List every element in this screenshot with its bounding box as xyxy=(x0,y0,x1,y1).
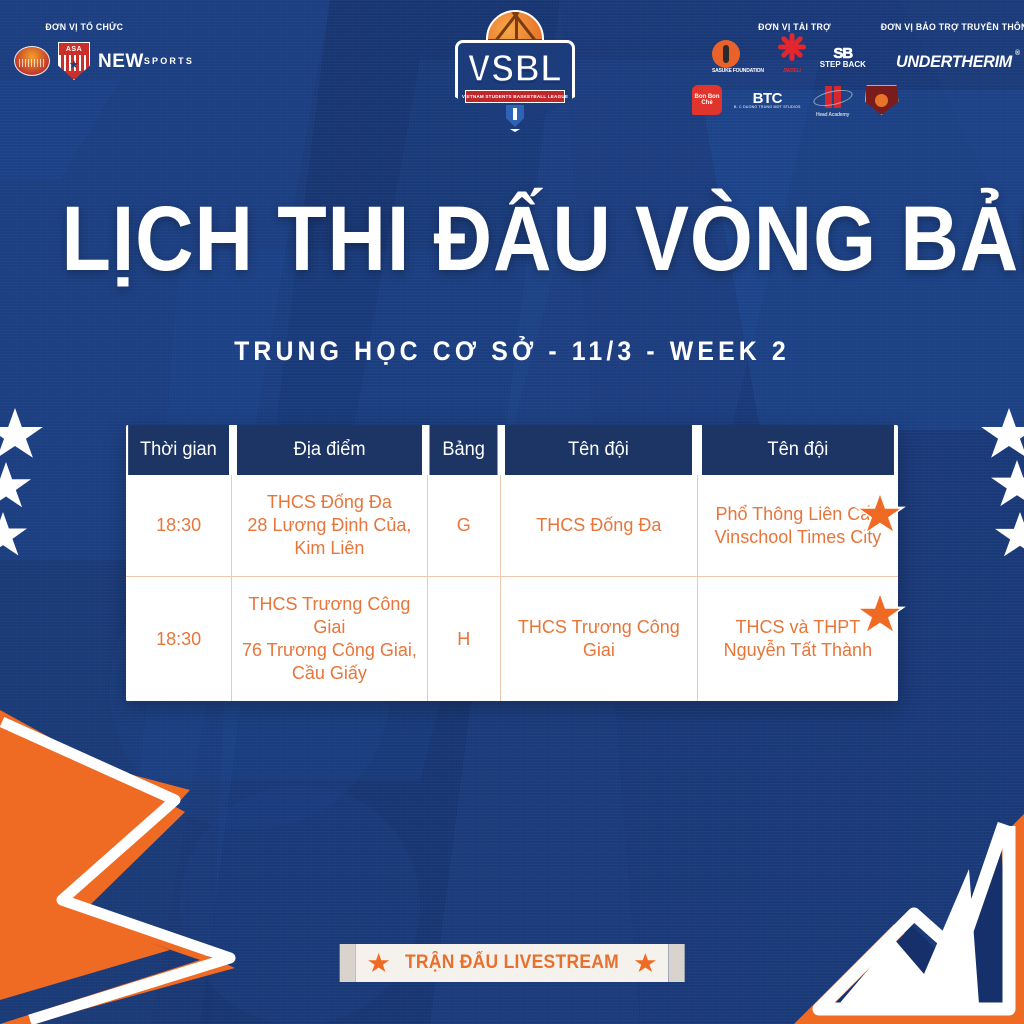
new-sports-line2: SPORTS xyxy=(144,57,194,66)
sponsor-logos-row1: SASUKE FOUNDATION JIADELI SB STEP BACK xyxy=(712,40,866,74)
banner-star-right-icon xyxy=(634,953,656,974)
cell-team-a: THCS Đống Đa xyxy=(500,475,697,577)
venue-line: THCS Trương Công Giai xyxy=(238,593,420,639)
media-logos: UNDERTHERIM ® xyxy=(893,52,1015,72)
column-header-venue: Địa điểm xyxy=(236,425,424,475)
sasuke-foundation-caption: SASUKE FOUNDATION xyxy=(712,68,764,74)
step-back-mark: SB xyxy=(820,46,866,61)
column-header-time: Thời gian xyxy=(128,425,230,475)
btc-mark: BTC xyxy=(734,91,801,106)
cell-time: 18:30 xyxy=(126,475,232,577)
crest-logo xyxy=(14,46,50,76)
team-line: THCS Đống Đa xyxy=(507,514,691,537)
cell-venue: THCS Trương Công Giai 76 Trương Công Gia… xyxy=(232,577,427,702)
venue-line: 28 Lương Định Của, xyxy=(238,514,420,537)
team-line: Nguyễn Tất Thành xyxy=(704,639,892,662)
column-header-team-a: Tên đội xyxy=(504,425,693,475)
banner-tail-right xyxy=(668,944,684,982)
page-title: LỊCH THI ĐẤU VÒNG BẢNG xyxy=(61,196,962,283)
livestream-banner: TRẬN ĐẤU LIVESTREAM xyxy=(340,944,685,982)
head-academy-logo: Head Academy xyxy=(813,82,853,118)
asa-logo: ASA xyxy=(58,42,90,80)
column-header-group: Bảng xyxy=(429,425,499,475)
vsbl-ribbon: VIETNAM STUDENTS BASKETBALL LEAGUE xyxy=(465,90,565,103)
team-line: THCS và THPT xyxy=(704,616,892,639)
page-subtitle: TRUNG HỌC CƠ SỞ - 11/3 - WEEK 2 xyxy=(41,336,983,367)
cell-group: G xyxy=(427,475,500,577)
sponsor-label: ĐƠN VỊ TÀI TRỢ xyxy=(758,22,831,33)
btc-logo: BTC B. C DUONG TRUNG MOT STUDIOS xyxy=(734,91,801,110)
team-line: THCS Trương Công Giai xyxy=(507,616,691,662)
table-header-row: Thời gian Địa điểm Bảng Tên đội Tên đội xyxy=(126,425,898,475)
bon-bon-che-logo: Bon Bon Chè xyxy=(692,85,722,115)
vsbl-ribbon-text: VIETNAM STUDENTS BASKETBALL LEAGUE xyxy=(462,94,568,99)
corner-bottom-right xyxy=(764,814,1024,1024)
new-sports-logo: NEW SPORTS xyxy=(98,52,194,71)
organizer-label: ĐƠN VỊ TỔ CHỨC xyxy=(45,22,123,33)
media-label: ĐƠN VỊ BẢO TRỢ TRUYỀN THÔNG xyxy=(881,22,1024,33)
team-line: Vinschool Times City xyxy=(704,526,892,549)
btc-caption: B. C DUONG TRUNG MOT STUDIOS xyxy=(734,106,801,110)
banner-band: TRẬN ĐẤU LIVESTREAM xyxy=(356,944,669,982)
vsbl-wordmark: VSBL xyxy=(461,48,569,91)
venue-line: 76 Trương Công Giai, xyxy=(238,639,420,662)
table-row: 18:30 THCS Đống Đa 28 Lương Định Của, Ki… xyxy=(126,475,898,577)
cell-group: H xyxy=(427,577,500,702)
basketball-icon xyxy=(875,94,888,107)
schedule-table: Thời gian Địa điểm Bảng Tên đội Tên đội … xyxy=(126,425,898,701)
registered-icon: ® xyxy=(1015,50,1020,57)
head-academy-caption: Head Academy xyxy=(813,112,853,118)
corner-bottom-left xyxy=(0,700,360,1024)
cell-time: 18:30 xyxy=(126,577,232,702)
venue-line: Cầu Giấy xyxy=(238,662,420,685)
cell-team-a: THCS Trương Công Giai xyxy=(500,577,697,702)
venue-line: THCS Đống Đa xyxy=(238,491,420,514)
cell-team-b: THCS và THPT Nguyễn Tất Thành xyxy=(697,577,898,702)
cell-venue: THCS Đống Đa 28 Lương Định Của, Kim Liên xyxy=(232,475,427,577)
step-back-caption: STEP BACK xyxy=(820,61,866,69)
jiadeli-logo: JIADELI xyxy=(778,40,806,74)
livestream-banner-text: TRẬN ĐẤU LIVESTREAM xyxy=(405,952,619,974)
table-row: 18:30 THCS Trương Công Giai 76 Trương Cô… xyxy=(126,577,898,702)
organizer-logos: ASA NEW SPORTS xyxy=(14,42,194,80)
sponsor-logos-row2: Bon Bon Chè BTC B. C DUONG TRUNG MOT STU… xyxy=(692,82,899,118)
new-sports-line1: NEW xyxy=(98,52,144,71)
banner-star-left-icon xyxy=(368,953,390,974)
step-back-logo: SB STEP BACK xyxy=(820,46,866,69)
vsbl-logo: VSBL VIETNAM STUDENTS BASKETBALL LEAGUE xyxy=(455,10,575,135)
undertherim-logo: UNDERTHERIM ® xyxy=(896,52,1012,72)
sasuke-foundation-logo: SASUKE FOUNDATION xyxy=(712,40,764,74)
team-line: Phổ Thông Liên Cấp xyxy=(704,503,892,526)
venue-line: Kim Liên xyxy=(238,537,420,560)
hanoi-basketball-logo xyxy=(865,85,899,115)
column-header-team-b: Tên đội xyxy=(701,425,894,475)
jiadeli-caption: JIADELI xyxy=(778,68,806,74)
undertherim-text: UNDERTHERIM xyxy=(896,52,1012,71)
banner-tail-left xyxy=(340,944,356,982)
asa-logo-text: ASA xyxy=(66,46,82,53)
